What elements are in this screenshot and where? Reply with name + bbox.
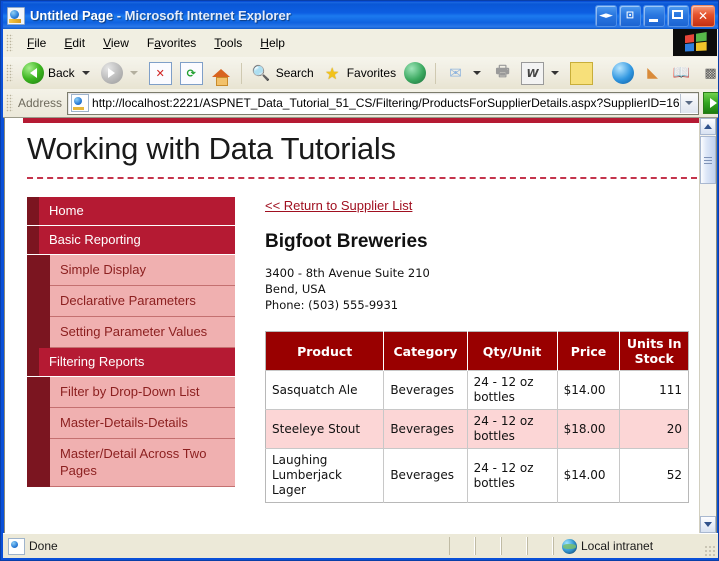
standard-toolbar: Back ✕ ⟳ 🔍 Search ★ Favorites ✉ 🖶 W	[3, 57, 718, 90]
sidebar-item-simple-display[interactable]: Simple Display	[27, 255, 235, 286]
column-header-price[interactable]: Price	[557, 332, 620, 371]
cell-category: Beverages	[384, 371, 467, 410]
sidebar-item-label: Home	[39, 197, 92, 225]
sidebar-item-filter-by-drop-down-list[interactable]: Filter by Drop-Down List	[27, 377, 235, 408]
sidebar-item-home[interactable]: Home	[27, 197, 235, 226]
windows-flag-glyph	[685, 32, 707, 51]
sidebar-item-label: Simple Display	[50, 255, 235, 286]
print-icon: 🖶	[492, 63, 513, 84]
status-cell-1	[449, 537, 475, 555]
minimize-icon	[649, 19, 658, 22]
print-button[interactable]: 🖶	[488, 61, 517, 86]
media-button[interactable]: ▩	[696, 61, 719, 86]
sidebar-item-master-details-details[interactable]: Master-Details-Details	[27, 408, 235, 439]
address-label: Address	[18, 96, 62, 110]
menu-view-post: iew	[111, 36, 129, 50]
web-page: Working with Data Tutorials Home Basic R…	[5, 118, 701, 533]
forward-dropdown-icon[interactable]	[130, 71, 138, 75]
chevron-down-icon	[704, 522, 712, 527]
address-url-text: http://localhost:2221/ASPNET_Data_Tutori…	[92, 96, 680, 110]
cell-price: $14.00	[557, 371, 620, 410]
minimize-button[interactable]	[643, 5, 665, 27]
refresh-button[interactable]: ⟳	[176, 60, 207, 87]
msn-icon	[612, 62, 634, 84]
sidebar-stripe	[27, 197, 39, 225]
sidebar-stripe	[27, 408, 50, 439]
intranet-globe-icon	[562, 539, 577, 554]
window-title-separator: -	[113, 8, 125, 23]
favorites-button-label: Favorites	[347, 66, 396, 80]
address-bar-grip[interactable]	[6, 94, 13, 112]
history-button[interactable]	[400, 60, 430, 86]
toolbar-grip[interactable]	[6, 64, 13, 82]
sidebar-stripe	[27, 377, 50, 408]
menu-tools-post: ools	[220, 36, 242, 50]
menu-item-help[interactable]: Help	[251, 33, 294, 53]
sidebar-item-label: Filtering Reports	[39, 348, 152, 376]
menu-bar: File Edit View Favorites Tools Help	[3, 29, 718, 58]
cell-product: Steeleye Stout	[266, 410, 384, 449]
status-cell-4	[527, 537, 553, 555]
table-row: Sasquatch Ale Beverages 24 - 12 oz bottl…	[266, 371, 689, 410]
resize-grip-icon[interactable]	[704, 545, 716, 557]
products-table-head: Product Category Qty/Unit Price Units In…	[266, 332, 689, 371]
sidebar-item-label: Filter by Drop-Down List	[50, 377, 235, 408]
sidebar-stripe	[27, 255, 50, 286]
sidebar-stripe	[27, 286, 50, 317]
search-button-label: Search	[276, 66, 314, 80]
back-icon	[22, 62, 44, 84]
windows-flag-icon	[673, 29, 717, 56]
notes-icon	[570, 62, 593, 85]
notes-button[interactable]	[566, 60, 597, 87]
menu-item-view[interactable]: View	[94, 33, 138, 53]
mail-button[interactable]: ✉	[441, 61, 488, 86]
media-icon: ▩	[700, 63, 719, 84]
address-input[interactable]: http://localhost:2221/ASPNET_Data_Tutori…	[67, 92, 699, 115]
cell-units: 52	[620, 449, 689, 503]
toolbar-separator-1	[241, 63, 242, 84]
sidebar-item-label: Declarative Parameters	[50, 286, 235, 317]
stop-icon: ✕	[149, 62, 172, 85]
status-cell-3	[501, 537, 527, 555]
edit-dropdown-icon[interactable]	[551, 71, 559, 75]
security-zone[interactable]: Local intranet	[553, 537, 718, 555]
page-divider	[27, 177, 697, 179]
scrollbar-thumb[interactable]	[700, 136, 716, 184]
column-header-qty-unit[interactable]: Qty/Unit	[467, 332, 557, 371]
sidebar-item-label: Master-Details-Details	[50, 408, 235, 439]
vertical-scrollbar[interactable]	[699, 118, 716, 533]
menu-bar-grip[interactable]	[6, 34, 13, 52]
cell-product: Sasquatch Ale	[266, 371, 384, 410]
window-title-app: Microsoft Internet Explorer	[125, 8, 291, 23]
menu-edit-post: dit	[72, 36, 85, 50]
menu-item-tools[interactable]: Tools	[205, 33, 251, 53]
maximize-button[interactable]	[667, 5, 689, 27]
column-header-units-in-stock[interactable]: Units In Stock	[620, 332, 689, 371]
window-group-icon: ⊡	[620, 6, 640, 26]
supplier-details: 3400 - 8th Avenue Suite 210 Bend, USA Ph…	[265, 265, 689, 313]
page-body: Home Basic Reporting Simple Display Decl…	[5, 197, 701, 503]
chevron-up-icon	[704, 124, 712, 129]
restore-group-icon: ◄►	[596, 6, 616, 26]
address-bar: Address http://localhost:2221/ASPNET_Dat…	[3, 89, 718, 118]
status-cell-2	[475, 537, 501, 555]
close-icon: ✕	[692, 6, 714, 26]
sidebar-item-label: Setting Parameter Values	[50, 317, 235, 348]
title-bar: Untitled Page - Microsoft Internet Explo…	[3, 2, 718, 29]
cell-category: Beverages	[384, 449, 467, 503]
page-icon	[71, 94, 89, 112]
cell-price: $18.00	[557, 410, 620, 449]
sidebar-stripe	[27, 439, 50, 487]
menu-file-post: ile	[34, 36, 46, 50]
search-button[interactable]: 🔍 Search	[247, 61, 318, 86]
favorites-button[interactable]: ★ Favorites	[318, 61, 400, 86]
internet-explorer-window: Untitled Page - Microsoft Internet Explo…	[0, 0, 719, 561]
sidebar-item-master-detail-across-two-pages[interactable]: Master/Detail Across Two Pages	[27, 439, 235, 487]
back-dropdown-icon[interactable]	[82, 71, 90, 75]
cell-qty-unit: 24 - 12 oz bottles	[467, 449, 557, 503]
browser-viewport: Working with Data Tutorials Home Basic R…	[4, 118, 717, 534]
edit-word-icon: W	[521, 62, 544, 85]
supplier-address-line-2: Bend, USA	[265, 281, 689, 297]
cell-units: 20	[620, 410, 689, 449]
menu-favorites-key: a	[154, 36, 161, 50]
supplier-address-line-1: 3400 - 8th Avenue Suite 210	[265, 265, 689, 281]
cell-product: Laughing Lumberjack Lager	[266, 449, 384, 503]
scroll-up-button[interactable]	[700, 118, 716, 135]
sidebar-item-setting-parameter-values[interactable]: Setting Parameter Values	[27, 317, 235, 348]
cell-units: 111	[620, 371, 689, 410]
sidebar-stripe	[27, 226, 39, 254]
page-accent-bar	[23, 118, 699, 123]
sidebar-item-declarative-parameters[interactable]: Declarative Parameters	[27, 286, 235, 317]
toolbar-separator-2	[435, 63, 436, 84]
address-dropdown-button[interactable]	[680, 94, 698, 113]
edit-button[interactable]: W	[517, 60, 566, 87]
sidebar-item-filtering-reports[interactable]: Filtering Reports	[27, 348, 235, 377]
restore-group-button[interactable]: ◄►	[595, 5, 617, 27]
history-icon	[404, 62, 426, 84]
column-header-category[interactable]: Category	[384, 332, 467, 371]
page-status-icon	[8, 538, 25, 555]
security-zone-label: Local intranet	[581, 539, 653, 553]
refresh-icon: ⟳	[180, 62, 203, 85]
ie-document-icon	[7, 7, 25, 25]
cell-qty-unit: 24 - 12 oz bottles	[467, 410, 557, 449]
column-header-product[interactable]: Product	[266, 332, 384, 371]
table-header-row: Product Category Qty/Unit Price Units In…	[266, 332, 689, 371]
products-table-body: Sasquatch Ale Beverages 24 - 12 oz bottl…	[266, 371, 689, 503]
status-text: Done	[29, 539, 58, 553]
sidebar-item-label: Basic Reporting	[39, 226, 149, 254]
cell-category: Beverages	[384, 410, 467, 449]
status-message: Done	[3, 538, 449, 555]
sidebar-item-label: Master/Detail Across Two Pages	[50, 439, 235, 487]
maximize-icon	[672, 10, 683, 19]
sidebar-item-basic-reporting[interactable]: Basic Reporting	[27, 226, 235, 255]
menu-item-edit[interactable]: Edit	[55, 33, 94, 53]
menu-help-key: H	[260, 36, 269, 50]
sidebar-stripe	[27, 317, 50, 348]
messenger-icon: ◣	[642, 63, 663, 84]
table-row: Steeleye Stout Beverages 24 - 12 oz bott…	[266, 410, 689, 449]
sidebar-navigation: Home Basic Reporting Simple Display Decl…	[27, 197, 235, 503]
back-button[interactable]: Back	[18, 60, 97, 86]
menu-item-favorites[interactable]: Favorites	[138, 33, 205, 53]
mail-dropdown-icon[interactable]	[473, 71, 481, 75]
forward-button[interactable]	[97, 60, 145, 86]
menu-help-post: elp	[269, 36, 285, 50]
go-button[interactable]: Go	[699, 92, 719, 114]
mail-icon: ✉	[445, 63, 466, 84]
page-title: Working with Data Tutorials	[27, 131, 701, 167]
home-icon	[211, 63, 232, 84]
menu-view-key: V	[103, 36, 111, 50]
home-button[interactable]	[207, 61, 236, 86]
research-button[interactable]: 📖	[667, 61, 696, 86]
scrollbar-grip-icon	[704, 157, 712, 164]
window-controls: ◄► ⊡ ✕	[595, 5, 715, 27]
menu-item-file[interactable]: File	[18, 33, 55, 53]
cell-price: $14.00	[557, 449, 620, 503]
go-icon	[703, 92, 719, 114]
close-button[interactable]: ✕	[691, 5, 715, 27]
supplier-name-heading: Bigfoot Breweries	[265, 231, 689, 253]
window-group-button[interactable]: ⊡	[619, 5, 641, 27]
table-row: Laughing Lumberjack Lager Beverages 24 -…	[266, 449, 689, 503]
messenger-button[interactable]: ◣	[638, 61, 667, 86]
supplier-phone: Phone: (503) 555-9931	[265, 297, 689, 313]
forward-icon	[101, 62, 123, 84]
menu-favorites-post: vorites	[161, 36, 196, 50]
main-content: << Return to Supplier List Bigfoot Brewe…	[265, 197, 701, 503]
sidebar-stripe	[27, 348, 39, 376]
cell-qty-unit: 24 - 12 oz bottles	[467, 371, 557, 410]
return-to-supplier-list-link[interactable]: << Return to Supplier List	[265, 198, 412, 213]
msn-button[interactable]	[608, 60, 638, 86]
window-title: Untitled Page - Microsoft Internet Explo…	[30, 8, 291, 23]
status-bar: Done Local intranet	[3, 533, 718, 558]
favorites-star-icon: ★	[322, 63, 343, 84]
research-icon: 📖	[671, 63, 692, 84]
window-title-page: Untitled Page	[30, 8, 113, 23]
products-table: Product Category Qty/Unit Price Units In…	[265, 331, 689, 503]
scroll-down-button[interactable]	[700, 516, 716, 533]
back-button-label: Back	[48, 66, 75, 80]
stop-button[interactable]: ✕	[145, 60, 176, 87]
search-icon: 🔍	[251, 63, 272, 84]
